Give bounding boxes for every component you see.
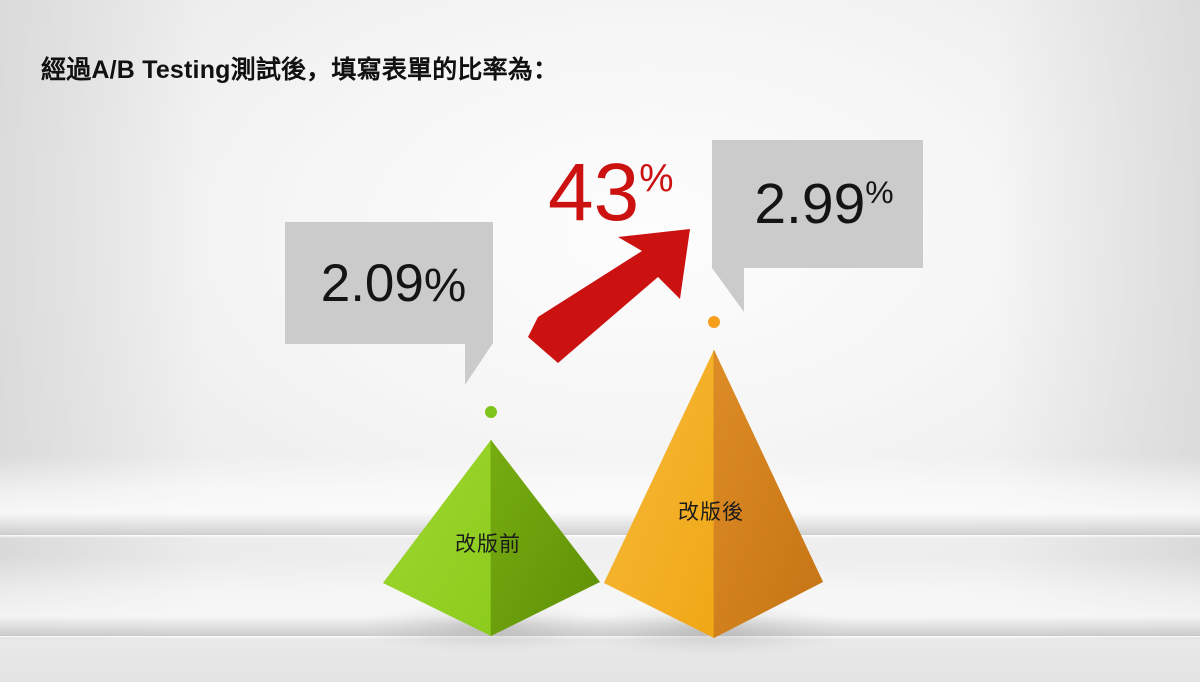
after-apex-dot: [708, 316, 720, 328]
after-pyramid-shape: [0, 0, 1200, 682]
slide-canvas: 經過A/B Testing測試後，填寫表單的比率為： 2.09% 2.99% 4…: [0, 0, 1200, 682]
after-pyramid-label: 改版後: [678, 496, 744, 526]
